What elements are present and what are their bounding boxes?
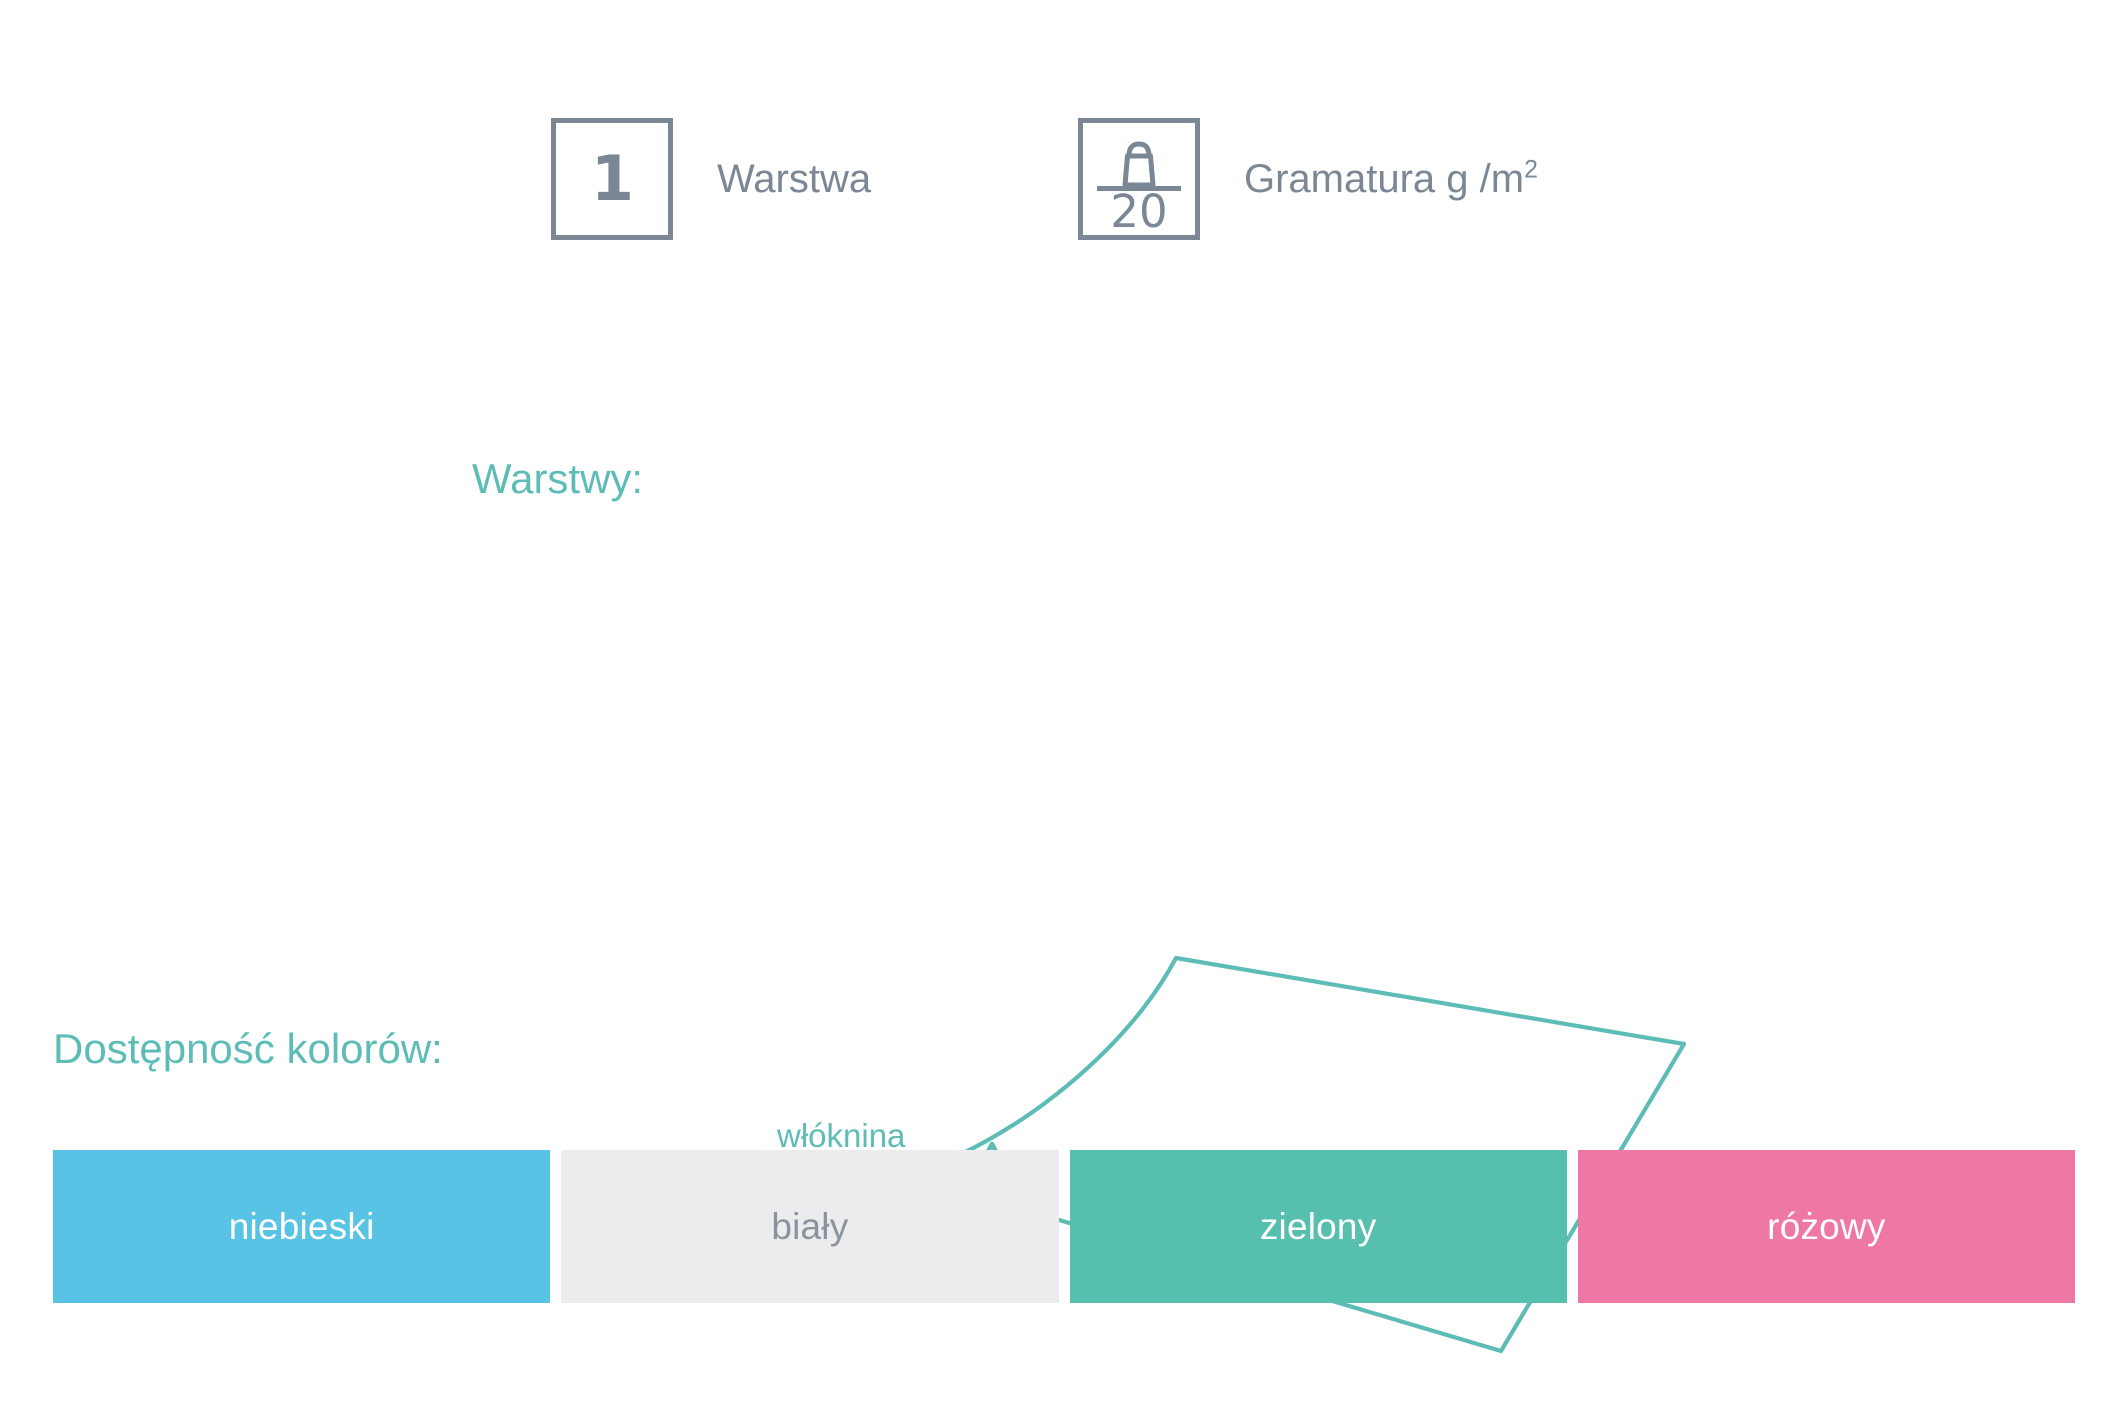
weight-gsm-value: 20 [1110,185,1167,235]
weight-gsm-label-text: Gramatura g /m [1244,157,1524,201]
color-swatch-row: niebieski biały zielony różowy [53,1150,2075,1303]
color-swatch-label: biały [771,1206,848,1248]
color-swatch-rozowy[interactable]: różowy [1578,1150,2075,1303]
spec-item-layers: 1 Warstwa [551,118,871,240]
color-swatch-bialy[interactable]: biały [561,1150,1058,1303]
color-swatch-zielony[interactable]: zielony [1070,1150,1567,1303]
color-swatch-label: zielony [1260,1206,1377,1248]
color-swatch-label: niebieski [229,1206,375,1248]
product-specs-row: 1 Warstwa 20 Gramatura g /m2 [0,118,2126,248]
layers-heading: Warstwy: [472,455,643,503]
weight-gsm-label-superscript: 2 [1524,156,1538,183]
color-swatch-niebieski[interactable]: niebieski [53,1150,550,1303]
layers-count-label: Warstwa [717,157,871,202]
color-swatch-label: różowy [1767,1206,1885,1248]
layers-count-icon: 1 [551,118,673,240]
color-availability-heading: Dostępność kolorów: [53,1025,443,1073]
weight-on-scale-icon: 20 [1083,123,1195,235]
spec-item-weight: 20 Gramatura g /m2 [1078,118,1538,240]
layers-section: Warstwy: włóknina [0,455,2126,935]
weight-gsm-label: Gramatura g /m2 [1244,157,1538,202]
weight-gsm-icon: 20 [1078,118,1200,240]
layers-count-value: 1 [591,148,633,210]
